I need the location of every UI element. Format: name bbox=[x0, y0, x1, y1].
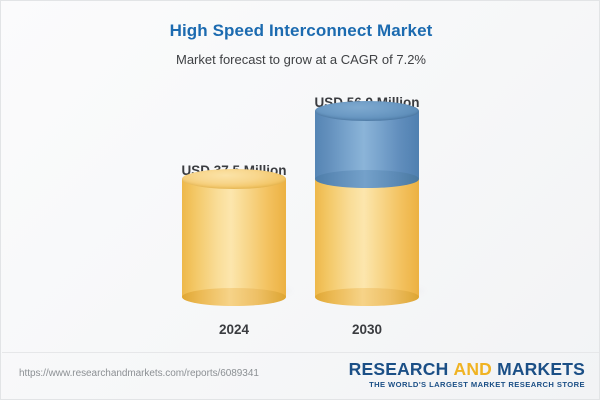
brand-word-markets: MARKETS bbox=[497, 359, 585, 379]
brand-word-and: AND bbox=[453, 359, 492, 379]
bar-top-cap-2030 bbox=[315, 101, 419, 121]
bar-bottom-cap-2024 bbox=[182, 288, 286, 306]
bar-top-cap-2024 bbox=[182, 169, 286, 189]
chart-subtitle: Market forecast to grow at a CAGR of 7.2… bbox=[1, 52, 600, 67]
chart-title: High Speed Interconnect Market bbox=[1, 21, 600, 41]
brand-tagline: THE WORLD'S LARGEST MARKET RESEARCH STOR… bbox=[349, 380, 585, 389]
bar-bottom-cap-2030 bbox=[315, 288, 419, 306]
plot-area: USD 37.5 Million 2024 USD 56.9 Million bbox=[1, 81, 600, 343]
bar-segment-junction-2030 bbox=[315, 170, 419, 188]
bar-segment-base-2030 bbox=[315, 179, 419, 297]
bar-segment-base-2024 bbox=[182, 179, 286, 297]
brand-wordmark: RESEARCH AND MARKETS bbox=[349, 360, 585, 378]
brand-logo[interactable]: RESEARCH AND MARKETS THE WORLD'S LARGEST… bbox=[349, 360, 585, 389]
bar-group-2030: USD 56.9 Million 2030 bbox=[287, 81, 447, 343]
chart-card: High Speed Interconnect Market Market fo… bbox=[0, 0, 600, 400]
source-url[interactable]: https://www.researchandmarkets.com/repor… bbox=[19, 368, 259, 379]
category-label-2030: 2030 bbox=[287, 322, 447, 337]
footer: https://www.researchandmarkets.com/repor… bbox=[1, 353, 600, 399]
bar-2024[interactable] bbox=[182, 179, 286, 297]
bar-2030[interactable] bbox=[315, 111, 419, 297]
bar-segment-growth-2030 bbox=[315, 111, 419, 179]
brand-word-research: RESEARCH bbox=[349, 359, 449, 379]
